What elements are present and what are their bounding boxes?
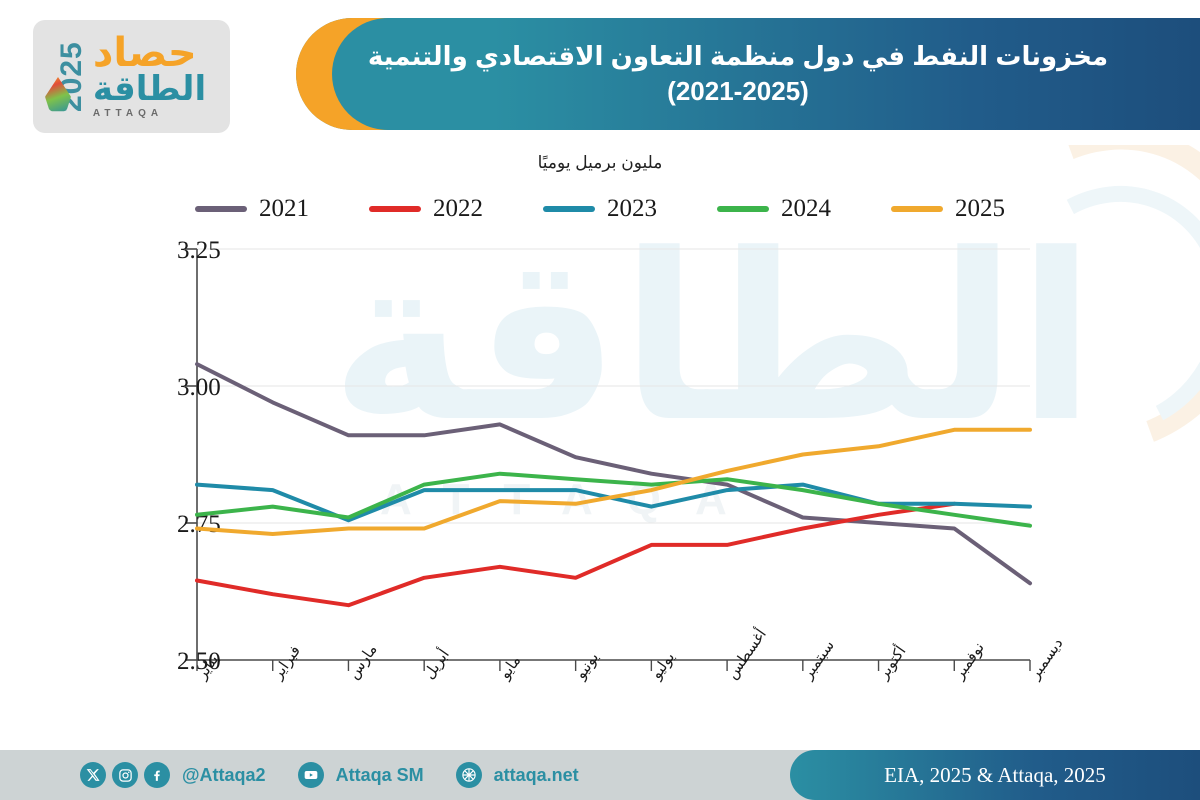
- logo-word-taqa: الطاقة: [93, 72, 206, 106]
- x-tick-label-6: يوليو: [647, 649, 678, 683]
- logo-wordmark: حصاد الطاقة ATTAQA: [93, 34, 206, 119]
- logo-word-hasad: حصاد: [93, 34, 197, 72]
- footer: @Attaqa2 Attaqa SM attaqa.net EIA, 2025 …: [0, 750, 1200, 800]
- youtube-icon[interactable]: [298, 762, 324, 788]
- x-tick-label-11: ديسمبر: [1026, 635, 1067, 683]
- x-twitter-icon[interactable]: [80, 762, 106, 788]
- youtube-label[interactable]: Attaqa SM: [336, 765, 424, 786]
- chart-container: الطاقة ATTAQA مليون برميل يوميًا 2021202…: [0, 145, 1200, 750]
- x-tick-label-7: أغسطس: [722, 625, 770, 682]
- page-title: مخزونات النفط في دول منظمة التعاون الاقت…: [296, 18, 1200, 130]
- x-tick-label-5: يونيو: [571, 649, 602, 683]
- instagram-icon[interactable]: [112, 762, 138, 788]
- website-label[interactable]: attaqa.net: [494, 765, 579, 786]
- line-chart-plot: 2.502.753.003.25ينايرفبرايرمارسأبريلمايو…: [0, 145, 1200, 750]
- header: 2025 حصاد الطاقة ATTAQA مخزونات النفط في…: [0, 0, 1200, 145]
- source-credit: EIA, 2025 & Attaqa, 2025: [790, 750, 1200, 800]
- facebook-icon[interactable]: [144, 762, 170, 788]
- series-line-2021[interactable]: [197, 364, 1030, 583]
- y-tick-label-3.00: 3.00: [177, 374, 221, 401]
- x-tick-label-4: مايو: [496, 652, 525, 683]
- dribbble-globe-icon[interactable]: [456, 762, 482, 788]
- social-group-attaqa2[interactable]: @Attaqa2: [80, 762, 288, 788]
- social-group-youtube[interactable]: Attaqa SM: [298, 762, 446, 788]
- x-tick-label-2: مارس: [345, 641, 381, 682]
- social-handle[interactable]: @Attaqa2: [182, 765, 266, 786]
- brand-logo: 2025 حصاد الطاقة ATTAQA: [33, 20, 230, 133]
- logo-brand-latin: ATTAQA: [93, 108, 163, 119]
- footer-social-bar: @Attaqa2 Attaqa SM attaqa.net: [0, 750, 601, 800]
- y-tick-label-3.25: 3.25: [177, 237, 221, 264]
- x-tick-label-1: فبراير: [269, 643, 304, 684]
- x-tick-label-10: نوفمبر: [950, 639, 988, 683]
- social-group-website[interactable]: attaqa.net: [456, 762, 601, 788]
- infographic-page: 2025 حصاد الطاقة ATTAQA مخزونات النفط في…: [0, 0, 1200, 800]
